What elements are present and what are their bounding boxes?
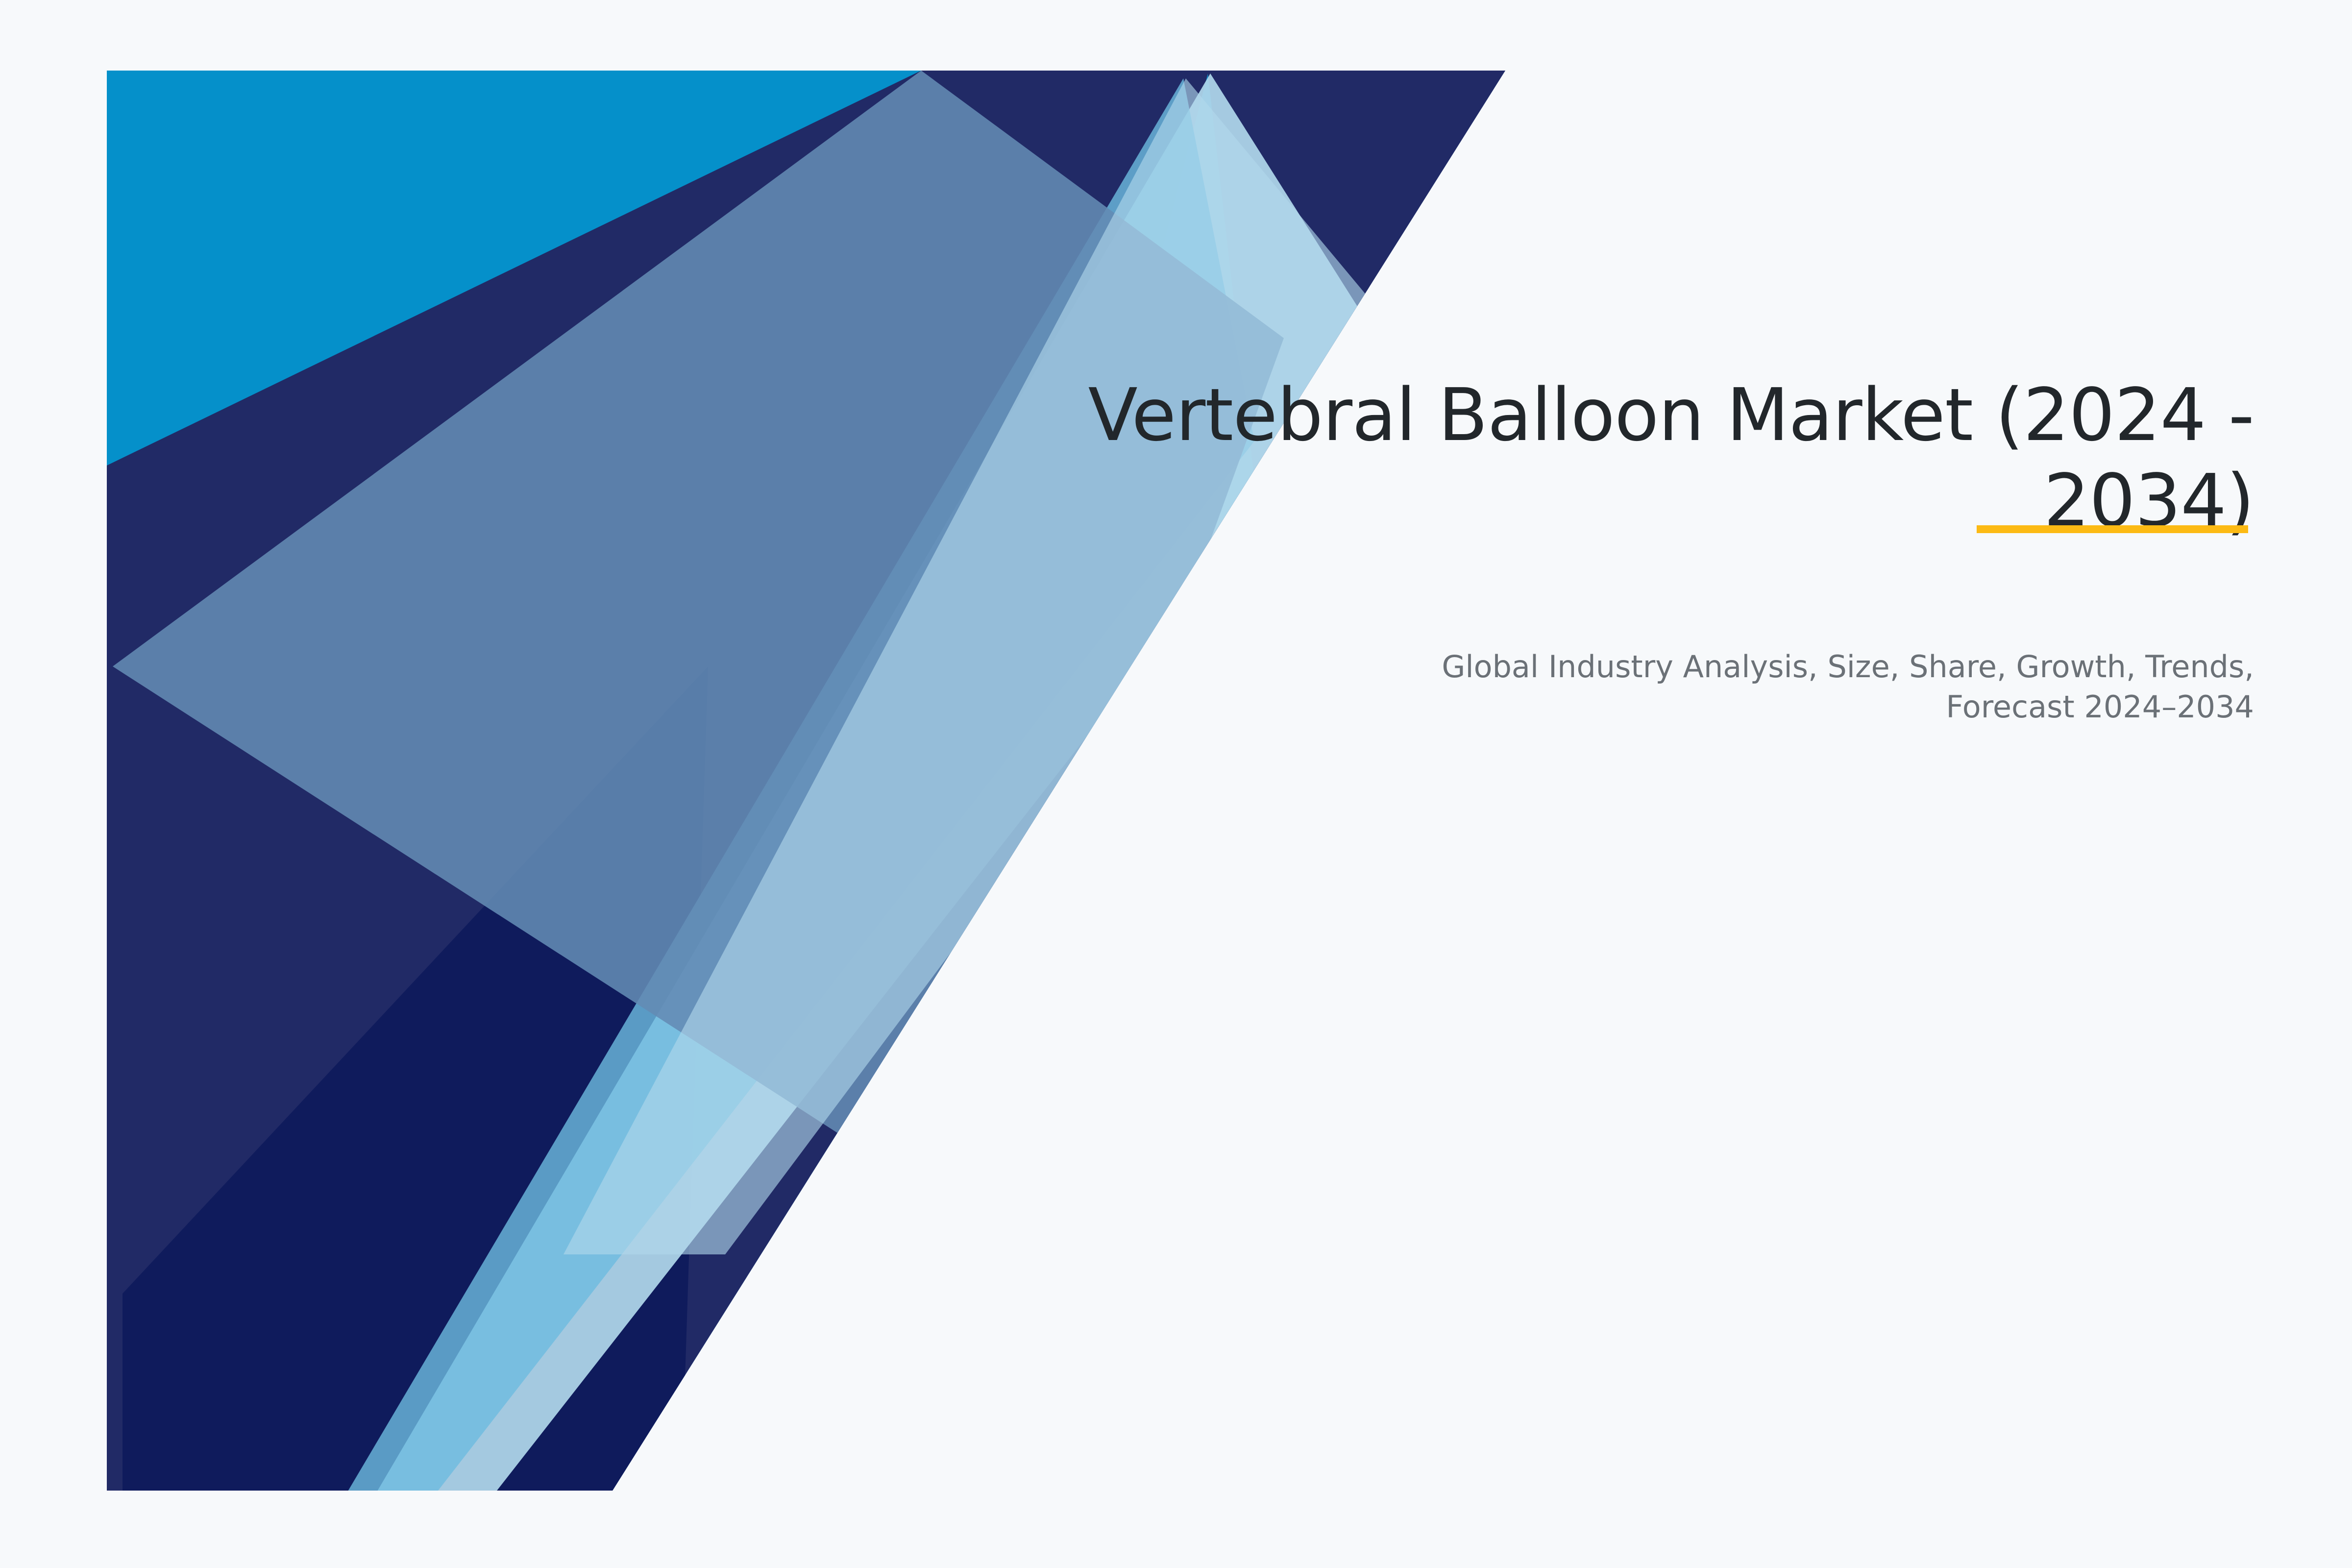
report-cover-page: Vertebral Balloon Market (2024 - 2034) G… [0,0,2352,1568]
geometric-cover-graphic [0,0,2352,1568]
page-subtitle: Global Industry Analysis, Size, Share, G… [1421,647,2254,727]
title-accent-underline [1977,525,2248,533]
cover-text-block: Vertebral Balloon Market (2024 - 2034) [1009,372,2254,543]
page-title: Vertebral Balloon Market (2024 - 2034) [1009,372,2254,543]
